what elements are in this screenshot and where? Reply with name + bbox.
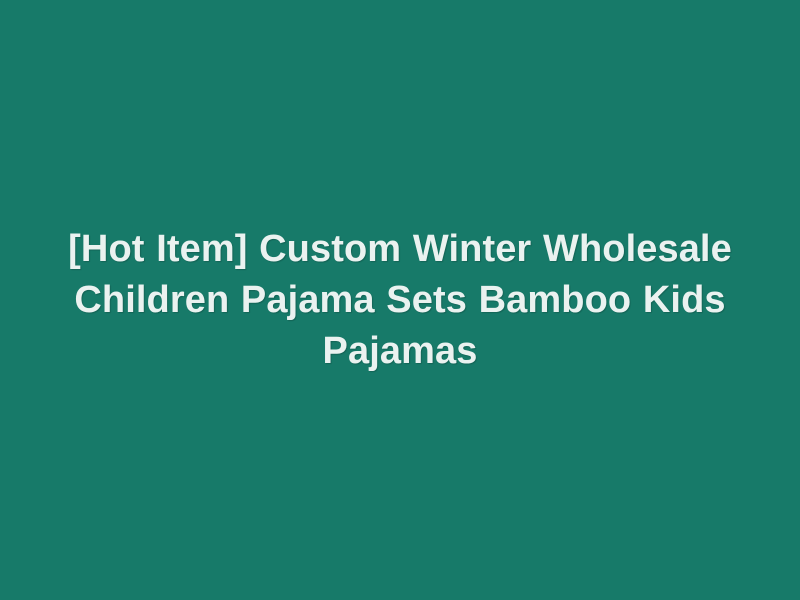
product-placeholder-card: [Hot Item] Custom Winter Wholesale Child… xyxy=(0,0,800,600)
headline-block: [Hot Item] Custom Winter Wholesale Child… xyxy=(50,224,750,377)
product-title: [Hot Item] Custom Winter Wholesale Child… xyxy=(62,224,738,377)
